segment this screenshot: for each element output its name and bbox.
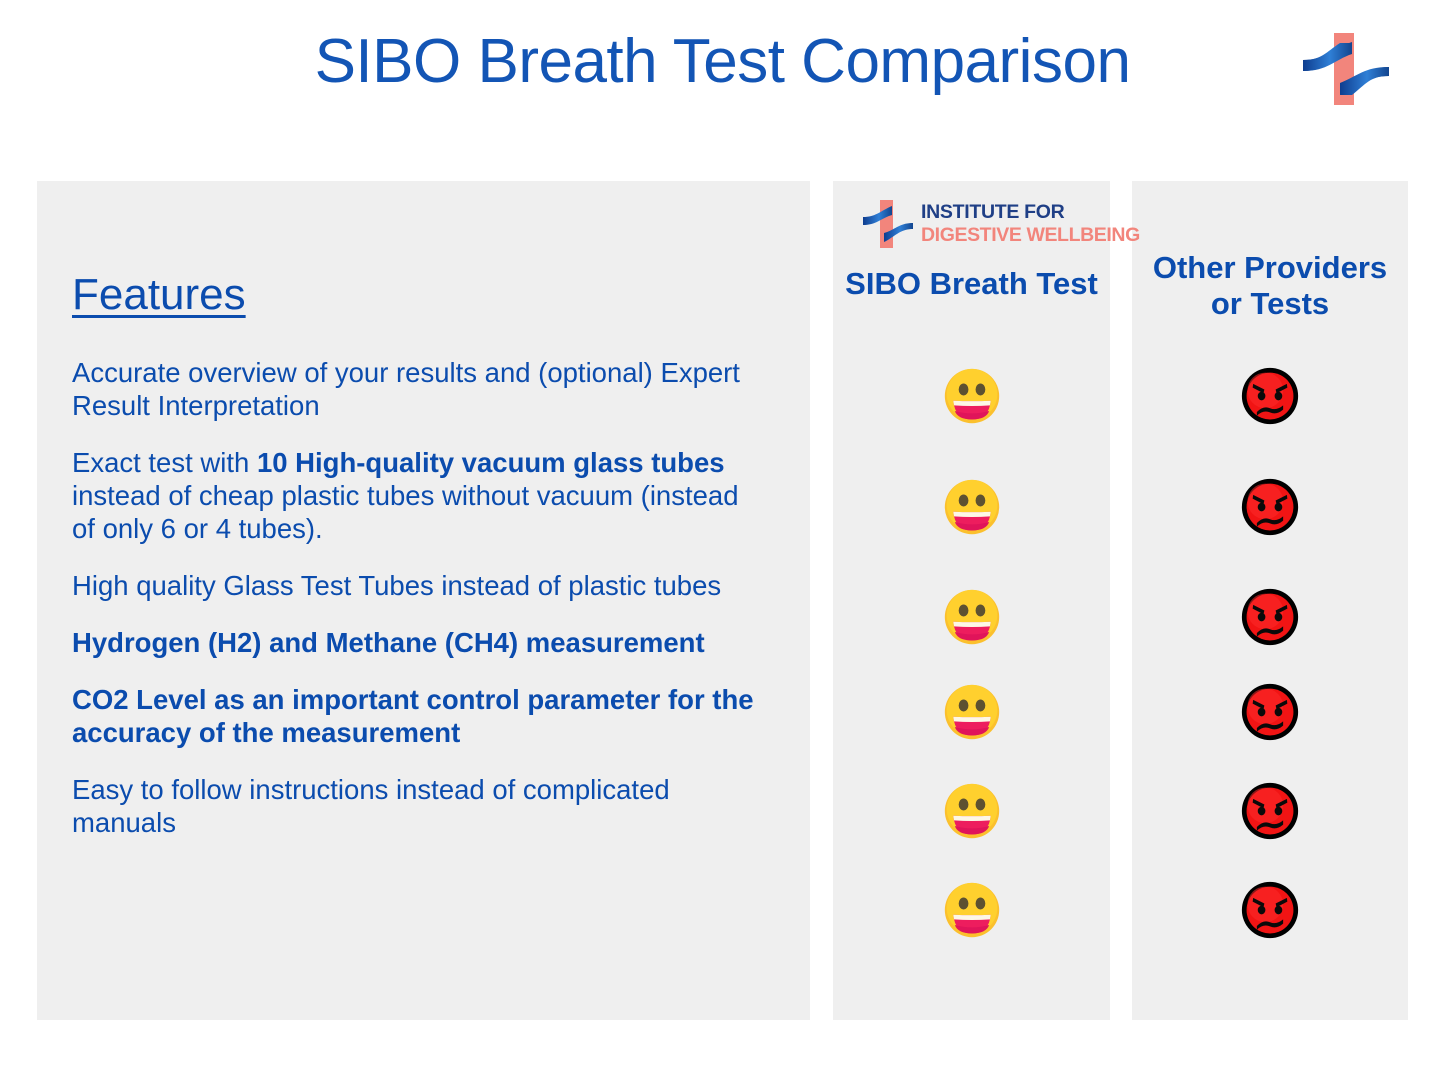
feature-item-exact-test-tubes: Exact test with 10 High-quality vacuum g… — [72, 446, 762, 545]
other-ratings-column — [1132, 0, 1408, 1084]
feature-text-segment: CO2 Level as an important control parame… — [72, 684, 754, 748]
feature-text-segment: instead of cheap plastic tubes without v… — [72, 480, 739, 544]
other-rating-angry-face-row-6 — [1132, 880, 1408, 940]
sibo-rating-grinning-face-row-3 — [833, 587, 1110, 647]
features-heading: Features — [72, 270, 246, 320]
other-rating-angry-face-row-5 — [1132, 781, 1408, 841]
sibo-rating-grinning-face-row-1 — [833, 366, 1110, 426]
other-rating-angry-face-row-1 — [1132, 366, 1408, 426]
feature-text-segment: Hydrogen (H2) and Methane (CH4) measurem… — [72, 627, 705, 658]
sibo-rating-grinning-face-row-2 — [833, 477, 1110, 537]
sibo-rating-grinning-face-row-4 — [833, 682, 1110, 742]
feature-text-segment: Exact test with — [72, 447, 257, 478]
feature-text-segment: Easy to follow instructions instead of c… — [72, 774, 670, 838]
comparison-board: Features Accurate overview of your resul… — [0, 0, 1445, 1084]
feature-item-glass-test-tubes: High quality Glass Test Tubes instead of… — [72, 569, 762, 602]
sibo-rating-grinning-face-row-5 — [833, 781, 1110, 841]
other-rating-angry-face-row-2 — [1132, 477, 1408, 537]
sibo-rating-grinning-face-row-6 — [833, 880, 1110, 940]
feature-text-segment: Accurate overview of your results and (o… — [72, 357, 740, 421]
feature-item-co2-level: CO2 Level as an important control parame… — [72, 683, 762, 749]
feature-item-accurate-overview: Accurate overview of your results and (o… — [72, 356, 762, 422]
feature-text-segment: 10 High-quality vacuum glass tubes — [257, 447, 725, 478]
features-list: Accurate overview of your results and (o… — [72, 356, 762, 863]
feature-text-segment: High quality Glass Test Tubes instead of… — [72, 570, 721, 601]
other-rating-angry-face-row-3 — [1132, 587, 1408, 647]
feature-item-easy-instructions: Easy to follow instructions instead of c… — [72, 773, 762, 839]
sibo-ratings-column — [833, 0, 1110, 1084]
other-rating-angry-face-row-4 — [1132, 682, 1408, 742]
feature-item-hydrogen-methane: Hydrogen (H2) and Methane (CH4) measurem… — [72, 626, 762, 659]
